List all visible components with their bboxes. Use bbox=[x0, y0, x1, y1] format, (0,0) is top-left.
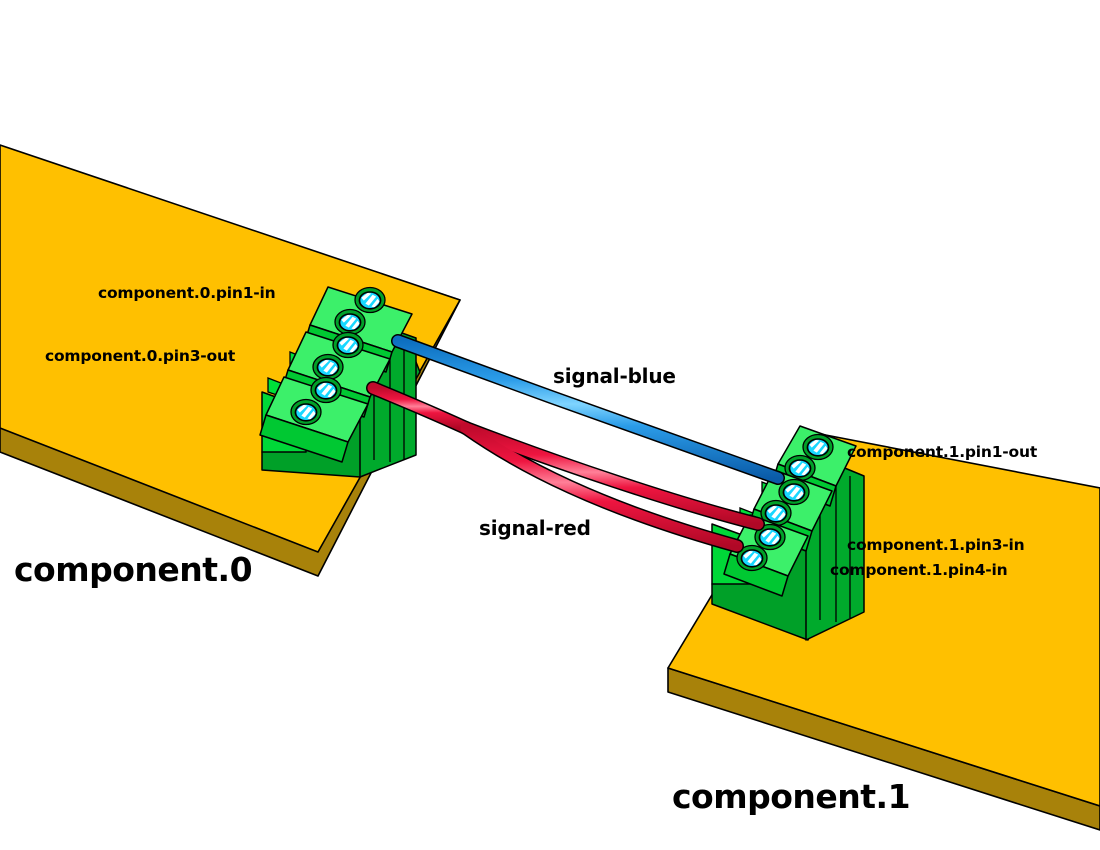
signal-blue-wire[interactable] bbox=[398, 341, 778, 478]
pin-label-component-0-pin3-out: component.0.pin3-out bbox=[45, 349, 235, 365]
component-0-title: component.0 bbox=[14, 553, 252, 586]
pin-label-component-1-pin3-in: component.1.pin3-in bbox=[847, 538, 1025, 554]
signal-label-red: signal-red bbox=[479, 518, 591, 538]
diagram-canvas: component.0.pin1-in component.0.pin3-out… bbox=[0, 0, 1100, 850]
component-1-board[interactable] bbox=[668, 432, 1100, 830]
pin-label-component-0-pin1-in: component.0.pin1-in bbox=[98, 286, 276, 302]
pin-label-component-1-pin4-in: component.1.pin4-in bbox=[830, 563, 1008, 579]
pin-label-component-1-pin1-out: component.1.pin1-out bbox=[847, 445, 1037, 461]
component-1-title: component.1 bbox=[672, 780, 910, 813]
signal-label-blue: signal-blue bbox=[553, 366, 676, 386]
wiring-scene bbox=[0, 0, 1100, 850]
